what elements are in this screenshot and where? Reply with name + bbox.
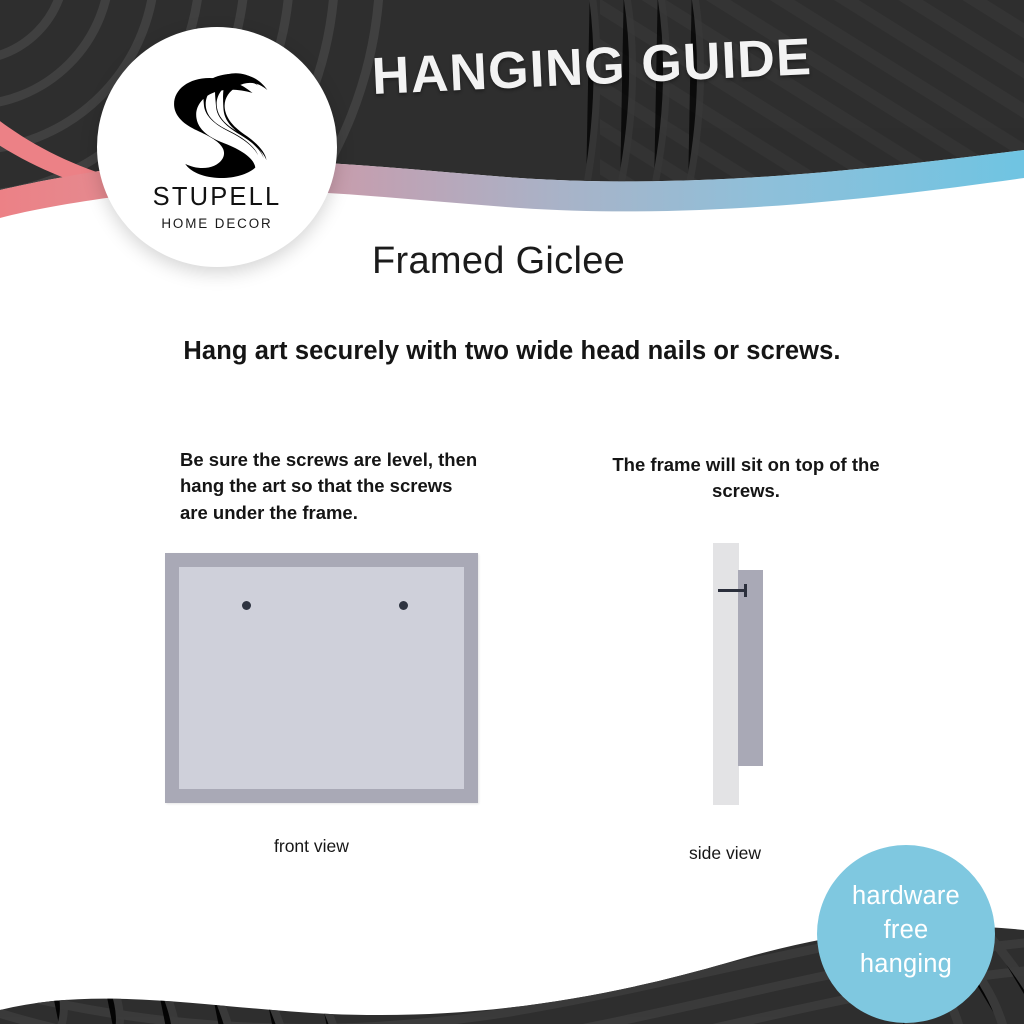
screw-dot-left bbox=[242, 601, 251, 610]
logo-tagline: HOME DECOR bbox=[161, 217, 272, 230]
side-view-diagram bbox=[700, 540, 786, 808]
logo-wordmark: STUPELL bbox=[153, 185, 282, 211]
side-view-wall bbox=[713, 543, 739, 805]
nail-side-profile-icon bbox=[718, 589, 746, 592]
front-view-caption: Be sure the screws are level, then hang … bbox=[180, 447, 480, 526]
badge-line-2: free bbox=[884, 914, 929, 948]
nail-head-icon bbox=[744, 584, 747, 597]
hardware-free-hanging-badge: hardware free hanging bbox=[817, 845, 995, 1023]
front-view-art-panel bbox=[179, 567, 464, 789]
front-view-label: front view bbox=[274, 836, 349, 857]
screw-dot-right bbox=[399, 601, 408, 610]
side-view-frame bbox=[738, 570, 763, 766]
front-view-diagram bbox=[165, 553, 478, 803]
side-view-label: side view bbox=[689, 843, 761, 864]
page-title: HANGING GUIDE bbox=[371, 27, 814, 107]
badge-line-3: hanging bbox=[860, 948, 952, 982]
badge-line-1: hardware bbox=[852, 880, 960, 914]
side-view-caption: The frame will sit on top of the screws. bbox=[612, 452, 880, 505]
logo-badge: STUPELL HOME DECOR bbox=[97, 27, 337, 267]
product-type-heading: Framed Giclee bbox=[372, 240, 625, 283]
hanging-guide-page: STUPELL HOME DECOR HANGING GUIDE Framed … bbox=[0, 0, 1024, 1024]
stupell-swoosh-logo-icon bbox=[161, 61, 273, 179]
main-instruction-text: Hang art securely with two wide head nai… bbox=[0, 337, 1024, 366]
